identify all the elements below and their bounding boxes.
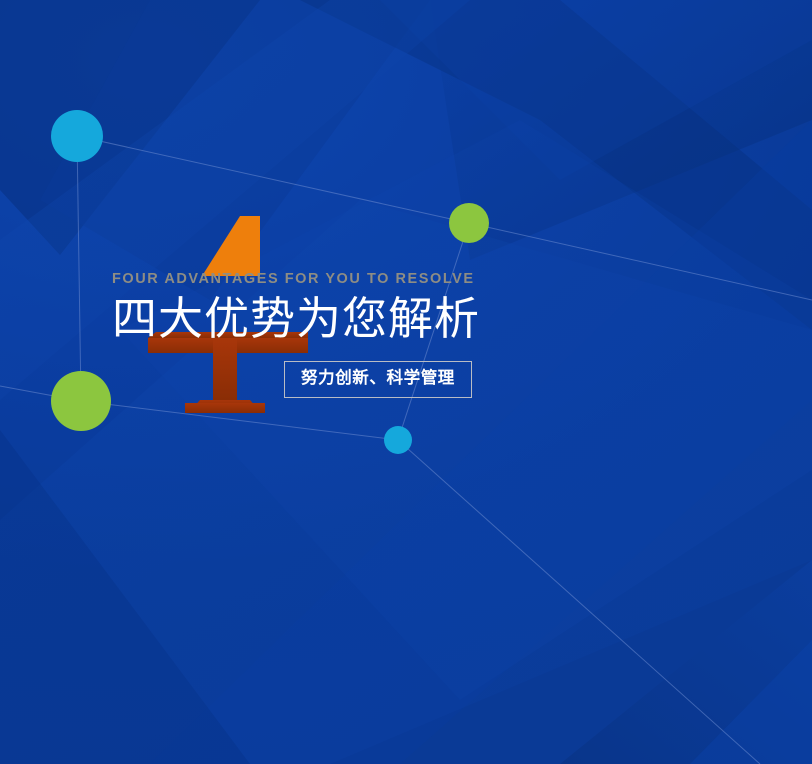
banner-content: FOUR ADVANTAGES FOR YOU TO RESOLVE 四大优势为… — [112, 196, 712, 398]
node-cyan-large — [51, 110, 103, 162]
edge-cyan-small-to-offscreen — [398, 440, 760, 764]
banner-eyebrow: FOUR ADVANTAGES FOR YOU TO RESOLVE — [112, 196, 712, 287]
node-cyan-small — [384, 426, 412, 454]
banner-subtitle: 努力创新、科学管理 — [301, 368, 455, 387]
edge-green-large-to-cyan-small — [81, 401, 398, 440]
banner-subtitle-box: 努力创新、科学管理 — [284, 361, 472, 398]
banner-canvas: FOUR ADVANTAGES FOR YOU TO RESOLVE 四大优势为… — [0, 0, 812, 764]
edge-cyan-to-green-large — [77, 136, 81, 401]
node-green-large — [51, 371, 111, 431]
banner-headline: 四大优势为您解析 — [112, 296, 712, 343]
